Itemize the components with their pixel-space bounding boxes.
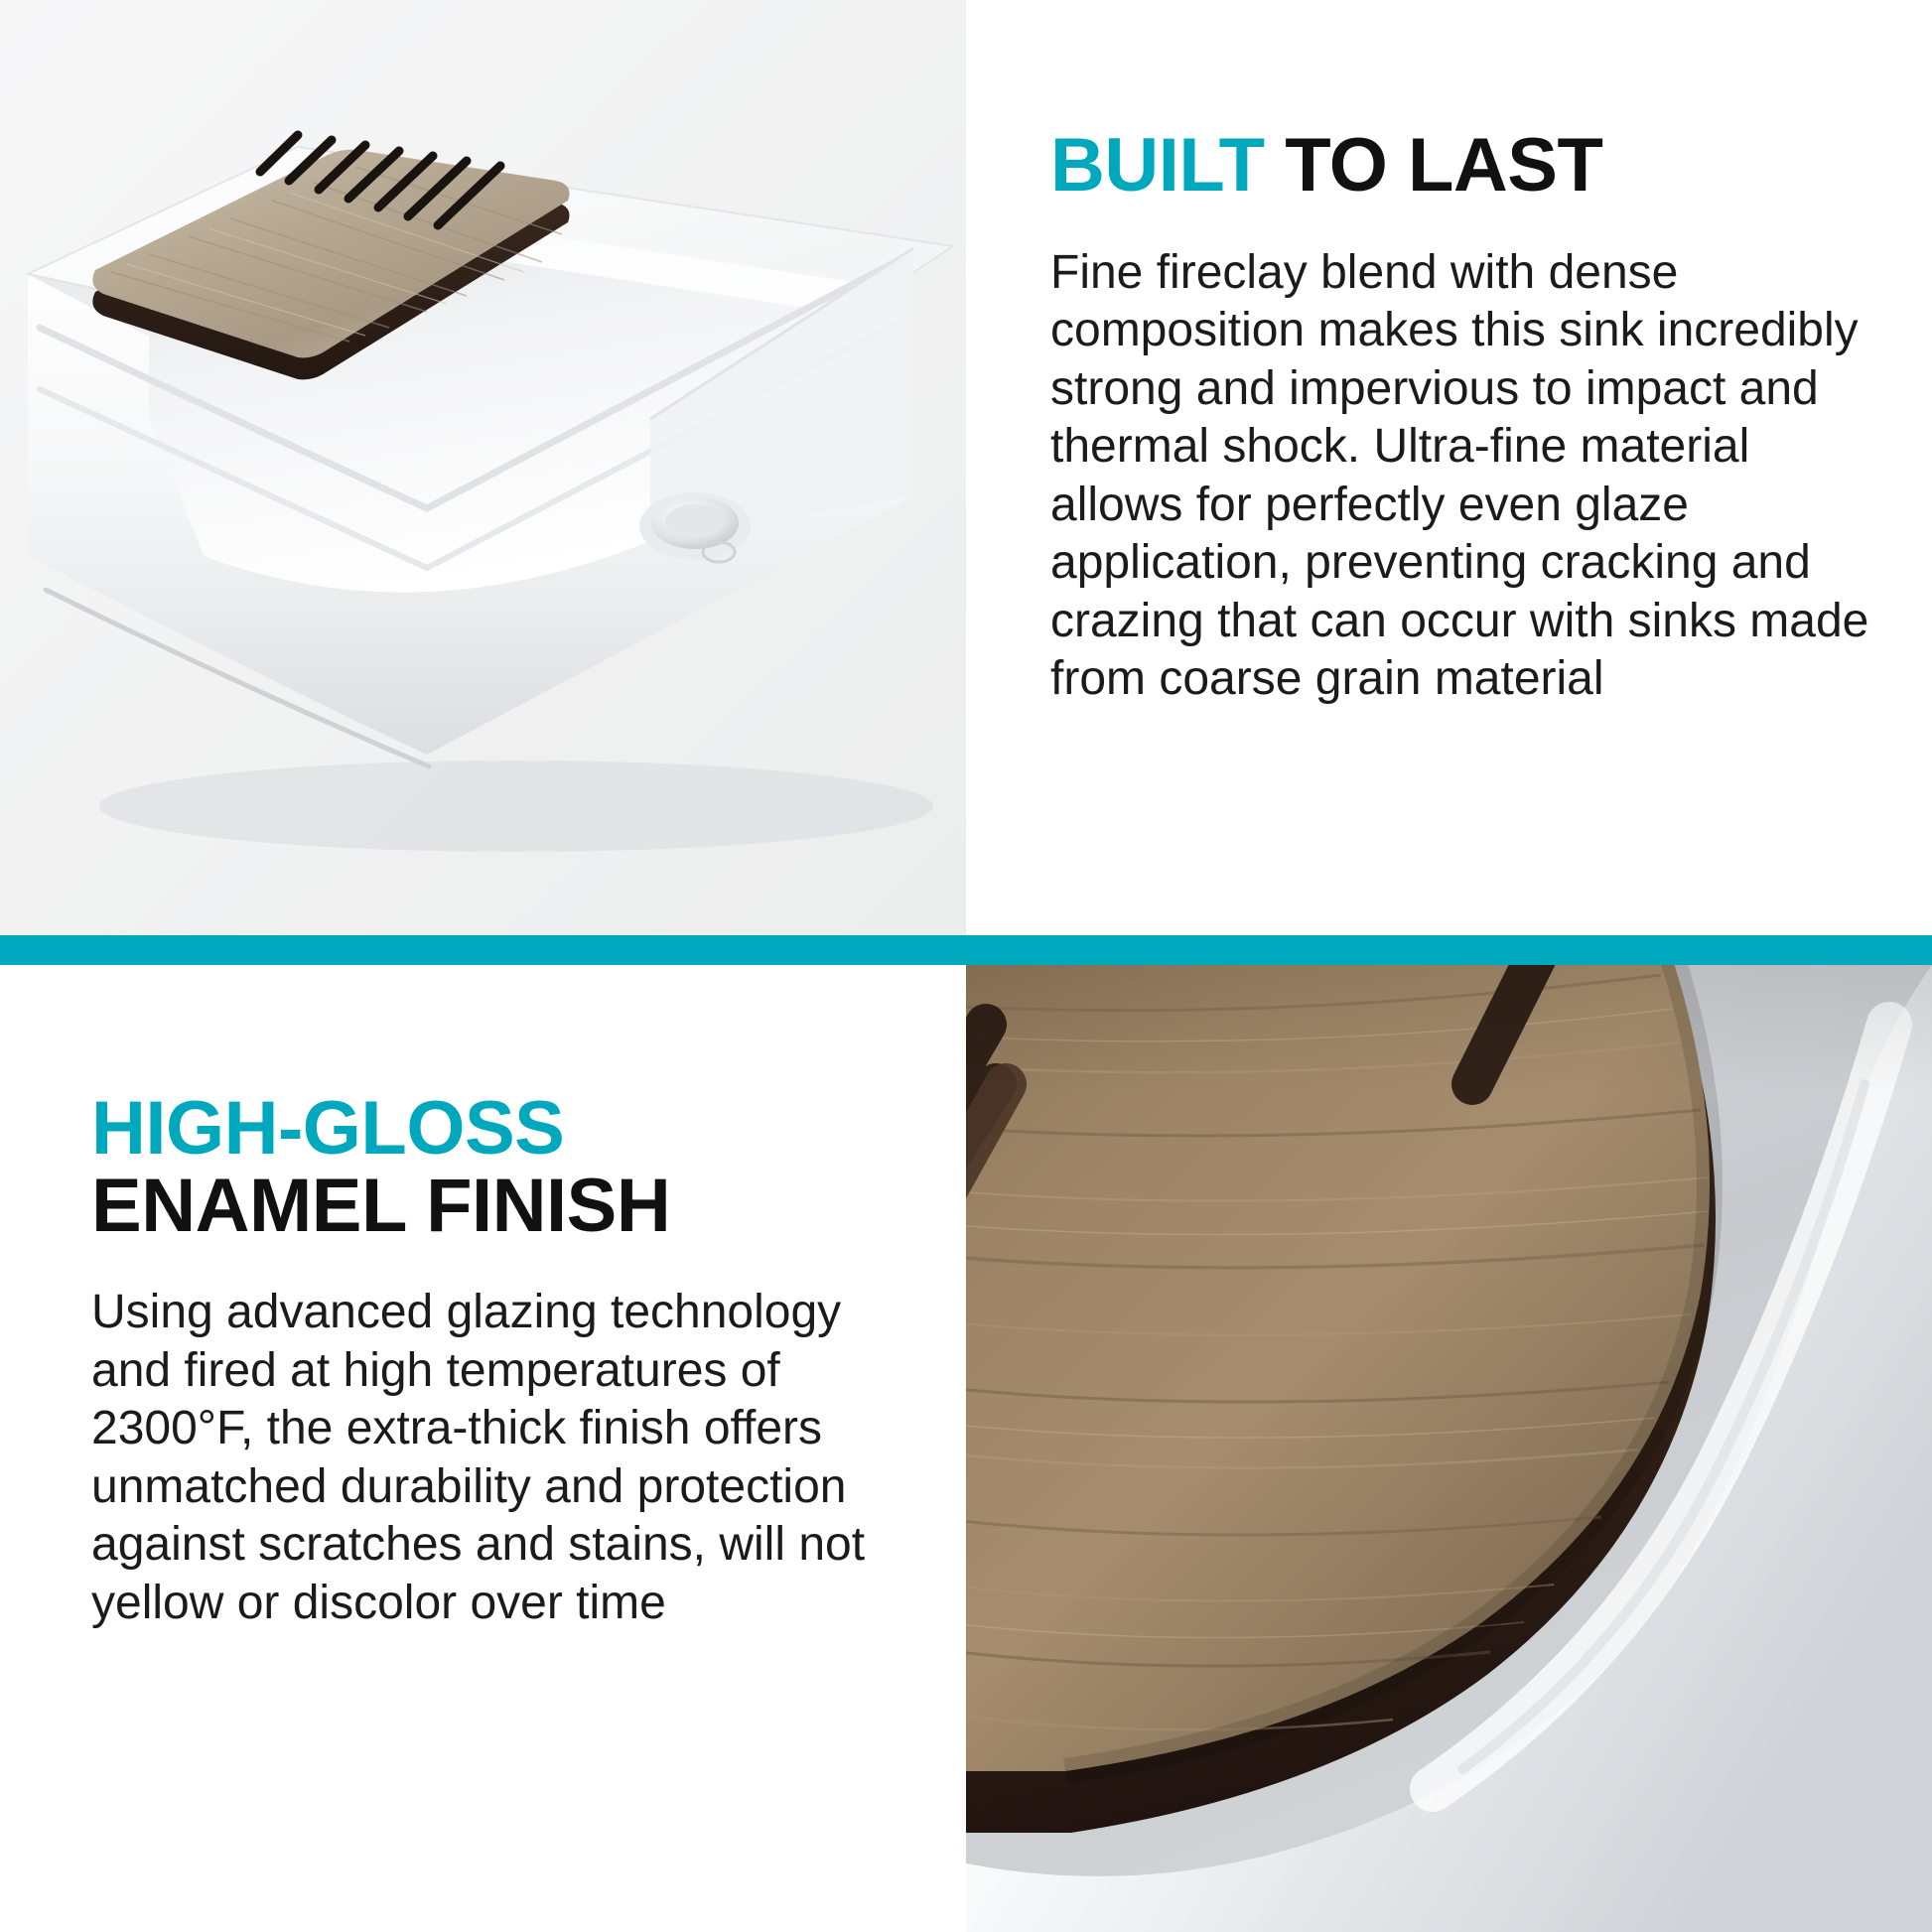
board-closeup-panel: GLOSS © 2020 Kraus USA Inc. All rights r… — [966, 965, 1932, 1932]
built-to-last-text-block: BUILT TO LAST Fine fireclay blend with d… — [1050, 127, 1884, 709]
sink-illustration — [0, 0, 966, 935]
infographic-page: BUILT TO LAST Fine fireclay blend with d… — [0, 0, 1932, 1932]
heading-accent-high-gloss: HIGH-GLOSS — [91, 1086, 564, 1171]
heading-plain-enamel-finish: ENAMEL FINISH — [91, 1164, 670, 1248]
closeup-svg — [966, 965, 1932, 1932]
teal-divider-bar — [0, 935, 1932, 965]
sink-svg — [0, 0, 966, 935]
heading-accent-built: BUILT — [1050, 123, 1265, 207]
product-photo-sink-panel — [0, 0, 966, 935]
built-to-last-heading: BUILT TO LAST — [1050, 127, 1884, 205]
high-gloss-text-block: HIGH-GLOSSENAMEL FINISH Using advanced g… — [91, 1090, 925, 1632]
board-closeup-illustration — [966, 965, 1932, 1932]
high-gloss-heading: HIGH-GLOSSENAMEL FINISH — [91, 1090, 925, 1244]
heading-plain-to-last: TO LAST — [1285, 123, 1602, 207]
built-to-last-body: Fine fireclay blend with dense compositi… — [1050, 244, 1884, 709]
high-gloss-body: Using advanced glazing technology and fi… — [91, 1284, 925, 1632]
